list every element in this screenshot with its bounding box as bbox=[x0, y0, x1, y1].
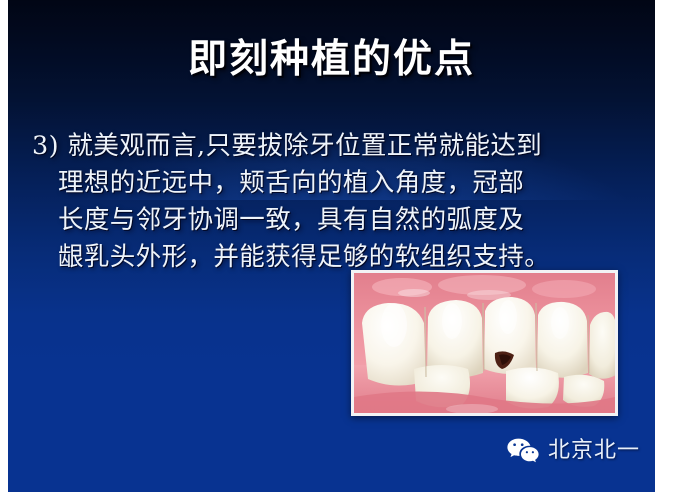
watermark: 北京北一 bbox=[506, 437, 640, 465]
slide-root: 即刻种植的优点 3) 就美观而言,只要拔除牙位置正常就能达到 理想的近远中，颊舌… bbox=[0, 0, 673, 492]
clinical-photo-image bbox=[354, 273, 615, 413]
clinical-photo bbox=[351, 270, 618, 416]
body-text-block: 3) 就美观而言,只要拔除牙位置正常就能达到 理想的近远中，颊舌向的植入角度，冠… bbox=[32, 128, 632, 276]
body-line-1: 3) 就美观而言,只要拔除牙位置正常就能达到 bbox=[32, 128, 632, 165]
watermark-label: 北京北一 bbox=[548, 438, 640, 464]
page-title: 即刻种植的优点 bbox=[8, 34, 655, 84]
body-line-3: 长度与邻牙协调一致，具有自然的弧度及 bbox=[32, 202, 632, 239]
body-line-2: 理想的近远中，颊舌向的植入角度，冠部 bbox=[32, 165, 632, 202]
presentation-slide: 即刻种植的优点 3) 就美观而言,只要拔除牙位置正常就能达到 理想的近远中，颊舌… bbox=[8, 0, 655, 492]
wechat-icon bbox=[506, 437, 540, 465]
